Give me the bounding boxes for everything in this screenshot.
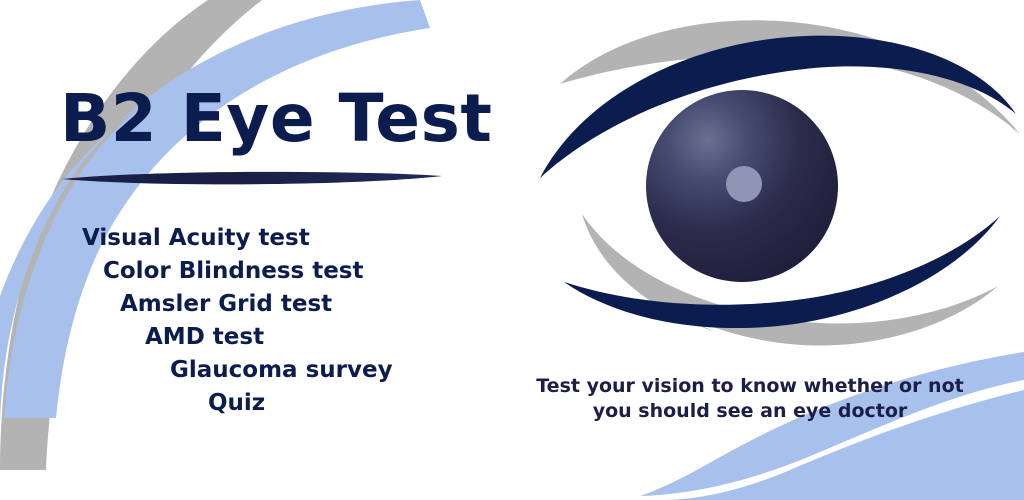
eye-pupil-icon	[726, 166, 762, 202]
tagline: Test your vision to know whether or not …	[520, 374, 980, 424]
title-underline-lens	[62, 168, 442, 188]
menu-item-4[interactable]: Glaucoma survey	[0, 354, 410, 387]
app-root: B2 Eye Test Visual Acuity testColor Blin…	[0, 0, 1024, 500]
title-underline-shape-icon	[62, 172, 442, 185]
left-content-column: B2 Eye Test Visual Acuity testColor Blin…	[0, 0, 470, 500]
menu-item-label: Quiz	[208, 390, 265, 416]
menu-item-5[interactable]: Quiz	[0, 387, 410, 420]
menu-item-3[interactable]: AMD test	[0, 321, 410, 354]
tagline-line-1: Test your vision to know whether or not	[520, 374, 980, 399]
menu-item-label: AMD test	[145, 324, 264, 350]
menu-item-0[interactable]: Visual Acuity test	[0, 222, 410, 255]
menu-item-label: Color Blindness test	[103, 258, 364, 284]
eye-logo	[520, 18, 1024, 363]
menu-item-label: Glaucoma survey	[170, 357, 393, 383]
menu-item-2[interactable]: Amsler Grid test	[0, 288, 410, 321]
page-title: B2 Eye Test	[60, 86, 492, 152]
menu-item-label: Amsler Grid test	[120, 291, 332, 317]
menu-item-label: Visual Acuity test	[82, 225, 310, 251]
test-menu-list[interactable]: Visual Acuity testColor Blindness testAm…	[0, 222, 410, 420]
menu-item-1[interactable]: Color Blindness test	[0, 255, 410, 288]
tagline-line-2: you should see an eye doctor	[520, 399, 980, 424]
